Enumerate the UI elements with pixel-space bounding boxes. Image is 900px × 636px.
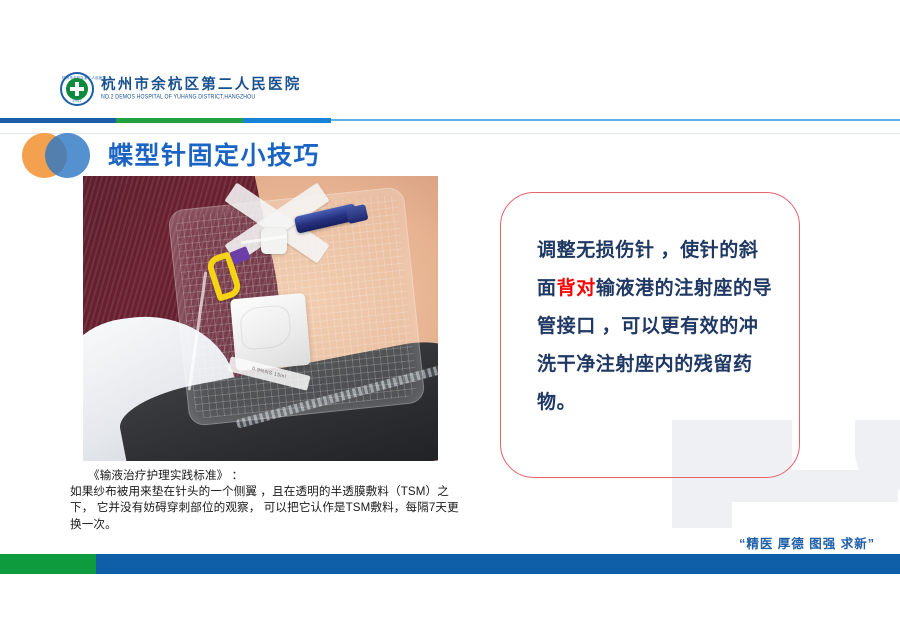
photo-caption: 《输液治疗护理实践标准》 ： 如果纱布被用来垫在针头的一个侧翼 ，且在透明的半透… xyxy=(70,468,460,533)
emblem-cross-horizontal xyxy=(70,87,84,91)
hospital-logo: 杭州市余杭区第二人民医院 1947 杭州市余杭区第二人民医院 NO.2 DEMO… xyxy=(60,72,301,106)
caption-source-title: 《输液治疗护理实践标准》 ： xyxy=(70,468,460,484)
divider-segment-green xyxy=(116,118,243,123)
photo-gauze-fold xyxy=(239,304,292,350)
header-rule xyxy=(0,133,900,134)
blue-circle-icon xyxy=(45,133,90,178)
hospital-name-en: NO.2 DEMOS HOSPITAL OF YUHANG DISTRICT,H… xyxy=(101,95,301,101)
slide-header: 杭州市余杭区第二人民医院 1947 杭州市余杭区第二人民医院 NO.2 DEMO… xyxy=(0,0,900,118)
hospital-emblem-icon: 杭州市余杭区第二人民医院 1947 xyxy=(60,72,94,106)
slide-canvas: 杭州市余杭区第二人民医院 1947 杭州市余杭区第二人民医院 NO.2 DEMO… xyxy=(0,0,900,636)
callout-text: 调整无损伤针 ，使针的斜面背对输液港的注射座的导管接口 ，可以更有效的冲洗干净注… xyxy=(537,232,777,422)
divider-segment-blue xyxy=(243,118,331,123)
hospital-name-cn: 杭州市余杭区第二人民医院 xyxy=(101,78,301,93)
divider-segment-darkblue xyxy=(0,118,116,123)
page-title: 蝶型针固定小技巧 xyxy=(108,136,320,172)
callout-highlight: 背对 xyxy=(557,278,596,299)
clinical-photo: 0.9%NS 15ml xyxy=(83,176,438,461)
footer-motto: “精医 厚德 图强 求新” xyxy=(739,533,875,552)
footer-bar-blue xyxy=(96,554,900,574)
emblem-year: 1947 xyxy=(62,98,92,103)
photo-tape-center-knot xyxy=(261,228,287,254)
title-decoration-circles xyxy=(22,131,92,179)
hospital-name-block: 杭州市余杭区第二人民医院 NO.2 DEMOS HOSPITAL OF YUHA… xyxy=(101,78,301,100)
caption-body: 如果纱布被用来垫在针头的一个侧翼 ，且在透明的半透膜敷料（TSM）之下， 它并没… xyxy=(70,484,460,533)
footer-bar-green xyxy=(0,554,96,574)
